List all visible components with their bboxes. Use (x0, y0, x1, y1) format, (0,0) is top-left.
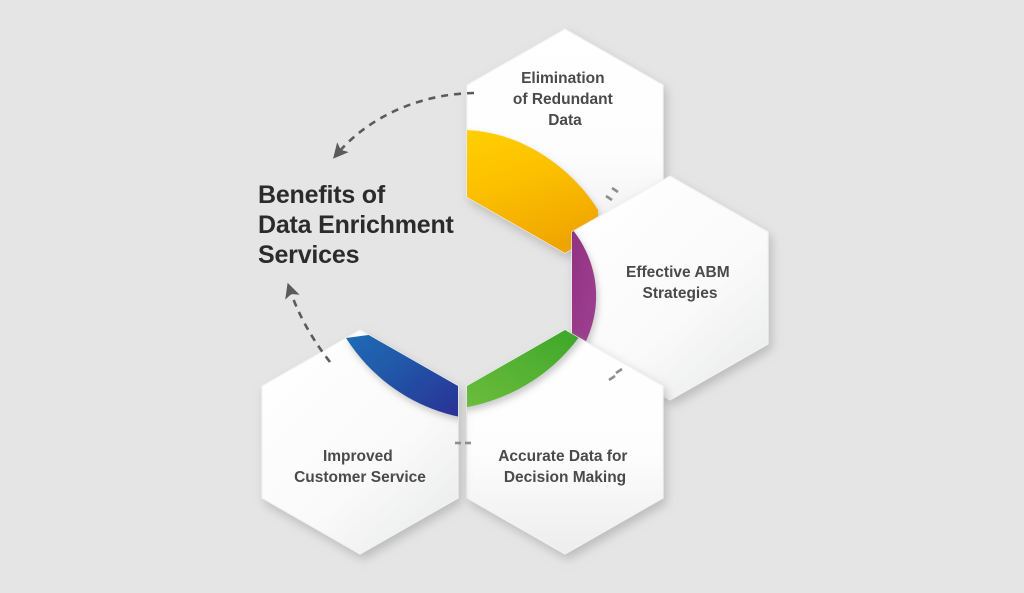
hexagon-bottom-left (262, 330, 458, 554)
page-title: Benefits of Data Enrichment Services (258, 181, 455, 269)
infographic-canvas: Elimination of Redundant Data Effective … (0, 0, 1024, 593)
title-line-2: Data Enrichment (258, 211, 455, 239)
benefits-hexagon-diagram: Elimination of Redundant Data Effective … (0, 0, 1024, 593)
title-line-3: Services (258, 241, 359, 269)
title-line-1: Benefits of (258, 181, 386, 209)
node-improved-customer-service[interactable]: Improved Customer Service (262, 322, 466, 554)
arrow-to-title-top (338, 93, 474, 153)
